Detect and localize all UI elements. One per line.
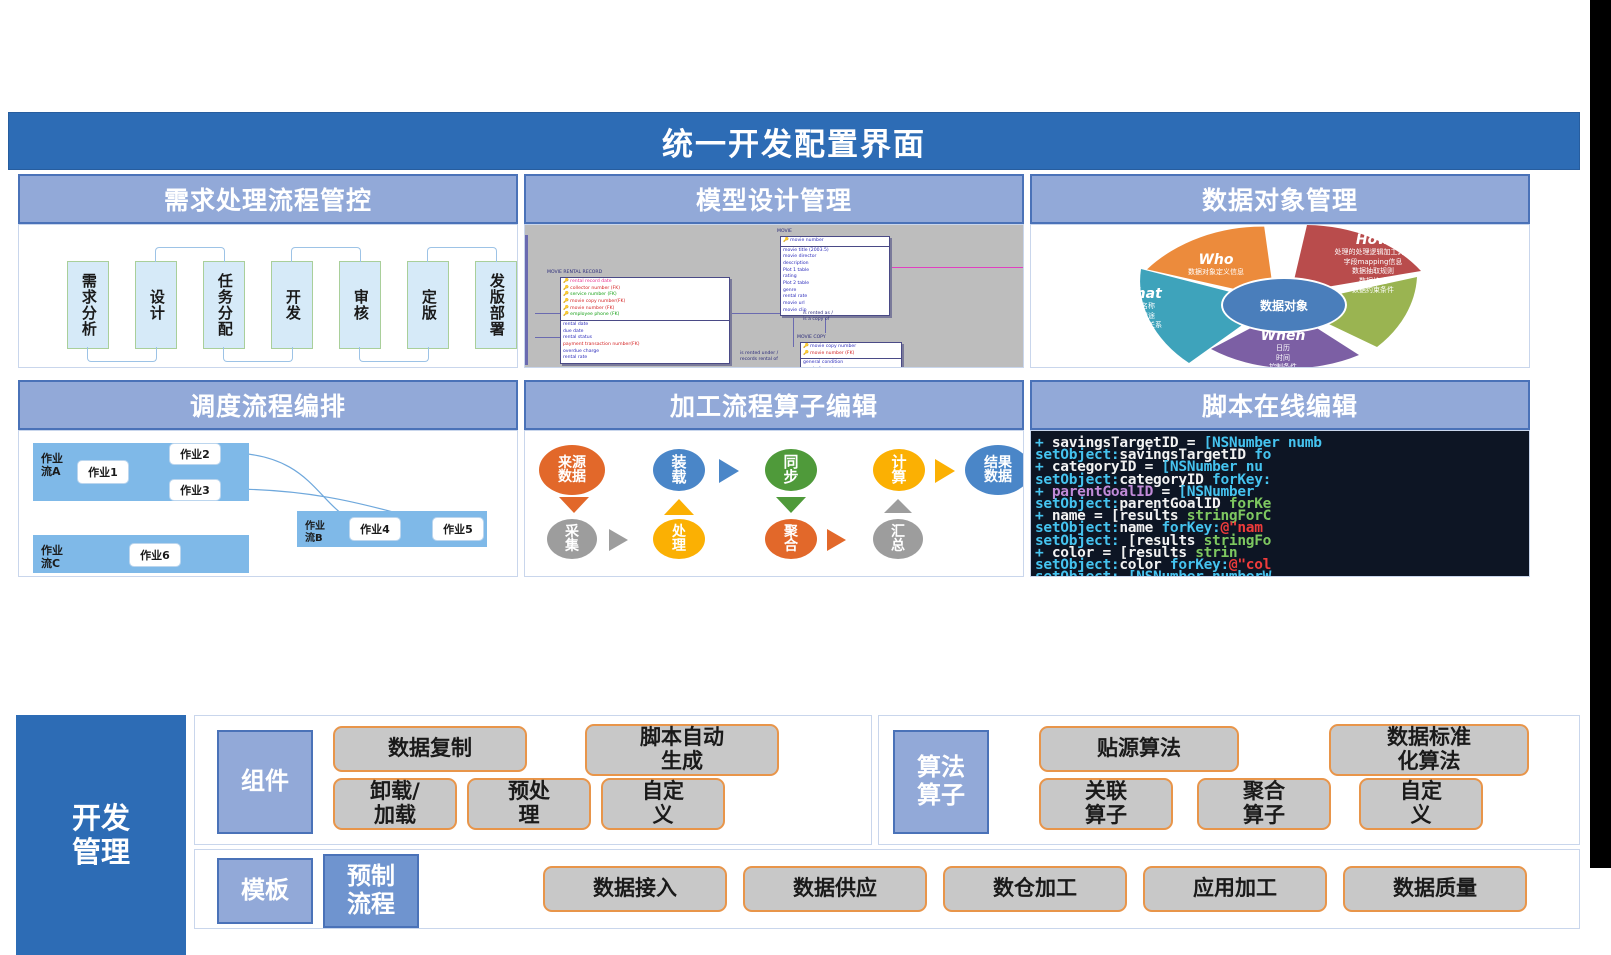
panel-header-script: 脚本在线编辑 <box>1030 380 1530 430</box>
operator-node-source-data[interactable]: 来源 数据 <box>539 445 605 495</box>
arrow-up-icon <box>884 499 912 513</box>
flow-link-3-4 <box>291 247 361 262</box>
category-algorithms[interactable]: 算法 算子 <box>893 730 989 834</box>
template-pill-4[interactable]: 数据质量 <box>1343 866 1527 912</box>
component-pill-2[interactable]: 卸载/ 加载 <box>333 778 457 830</box>
er-entity-title-2: MOVIE COPY <box>797 335 826 341</box>
er-entity-fields: rental date due date rental status payme… <box>561 321 729 363</box>
panel-header-label: 调度流程编排 <box>190 387 346 423</box>
job-node-4[interactable]: 作业4 <box>349 517 401 541</box>
arrow-down-icon <box>559 497 589 513</box>
panel-header-label: 加工流程算子编辑 <box>670 387 878 423</box>
wheel-segment-where[interactable]: Where 存放物理位置 Mapping关系 <box>1379 293 1505 327</box>
five-w-wheel[interactable]: How 处理的处理逻辑加工算法 字段mapping信息 数据抽取规则 数据格式 … <box>1031 225 1529 367</box>
panel-body-schedule: 作业 流A 作业1 作业2 作业3 作业 流B 作业4 作业5 作业 流C 作业… <box>18 430 518 577</box>
right-edge-band <box>1590 0 1611 868</box>
panel-body-script: + savingsTargetID = [NSNumber numbsetObj… <box>1030 430 1530 577</box>
category-template[interactable]: 模板 <box>217 858 313 924</box>
page-title: 统一开发配置界面 <box>662 119 926 164</box>
algorithms-card: 算法 算子 贴源算法 数据标准 化算法 关联 算子 聚合 算子 自定 义 <box>878 715 1580 845</box>
arrow-right-icon <box>609 529 628 551</box>
operator-node-process[interactable]: 处 理 <box>653 519 705 559</box>
wheel-segment-who[interactable]: Who 数据对象定义信息 <box>1151 253 1281 278</box>
code-line-11: setObject: [NSNumber numberW <box>1035 569 1271 576</box>
panel-header-label: 数据对象管理 <box>1202 181 1358 217</box>
template-pill-2[interactable]: 数仓加工 <box>943 866 1127 912</box>
panel-header-model: 模型设计管理 <box>524 174 1024 224</box>
flow-link-5-6 <box>427 247 497 262</box>
flow-link-0-1 <box>87 347 157 362</box>
arrow-right-icon <box>935 459 955 483</box>
code-editor-surface[interactable]: + savingsTargetID = [NSNumber numbsetObj… <box>1031 431 1529 576</box>
operator-node-sync[interactable]: 同 步 <box>765 449 817 491</box>
er-entity-title-0: MOVIE RENTAL RECORD <box>547 270 602 276</box>
panel-operator-editor[interactable]: 加工流程算子编辑 来源 数据 装 载 同 步 计 算 结果 数据 采 集 处 理… <box>524 380 1024 577</box>
operator-node-compute[interactable]: 计 算 <box>873 449 925 491</box>
flow-step-2[interactable]: 任务分配 <box>203 261 245 349</box>
er-entity-2[interactable]: 🔑 movie copy number 🔑 movie number (FK) … <box>800 342 902 368</box>
wheel-segment-what[interactable]: What 数据名称 数据用途 数据对象关系 加值流图 <box>1085 287 1197 340</box>
component-pill-3[interactable]: 预处 理 <box>467 778 591 830</box>
dev-management-sidebar[interactable]: 开发 管理 <box>16 715 186 955</box>
panel-data-object[interactable]: 数据对象管理 How 处理的处理逻辑加工算法 字段mapping信息 数据抽取规… <box>1030 174 1530 368</box>
arrow-down-icon <box>776 497 806 513</box>
arrow-right-icon <box>719 459 739 483</box>
flow-step-0[interactable]: 需求分析 <box>67 261 109 349</box>
panel-header-label: 需求处理流程管控 <box>164 181 372 217</box>
algorithm-pill-4[interactable]: 自定 义 <box>1359 778 1483 830</box>
panel-script-editor[interactable]: 脚本在线编辑 + savingsTargetID = [NSNumber num… <box>1030 380 1530 577</box>
flow-step-4[interactable]: 审核 <box>339 261 381 349</box>
template-pill-1[interactable]: 数据供应 <box>743 866 927 912</box>
er-relation-label-1: is rented under / records rental of <box>740 351 778 364</box>
er-relation-label-0: is rented as / is a copy of <box>803 311 833 324</box>
flow-link-4-5 <box>359 347 429 362</box>
requirement-flowchart[interactable]: 需求分析 设计 任务分配 开发 审核 定版 发版部署 <box>37 239 507 359</box>
wheel-center-label[interactable]: 数据对象 <box>1221 277 1347 333</box>
components-card: 组件 数据复制 脚本自动 生成 卸载/ 加载 预处 理 自定 义 <box>194 715 872 845</box>
arrow-right-icon <box>827 529 846 551</box>
flow-step-1[interactable]: 设计 <box>135 261 177 349</box>
panel-header-dataobject: 数据对象管理 <box>1030 174 1530 224</box>
panel-requirement-process[interactable]: 需求处理流程管控 需求分析 设计 任务分配 开发 审核 定版 发版部署 <box>18 174 518 368</box>
template-pill-3[interactable]: 应用加工 <box>1143 866 1327 912</box>
operator-node-result-data[interactable]: 结果 数据 <box>965 445 1024 495</box>
job-node-5[interactable]: 作业5 <box>432 517 484 541</box>
flow-step-6[interactable]: 发版部署 <box>475 261 517 349</box>
panel-header-schedule: 调度流程编排 <box>18 380 518 430</box>
category-components[interactable]: 组件 <box>217 730 313 834</box>
panel-header-operator: 加工流程算子编辑 <box>524 380 1024 430</box>
category-preset-flow[interactable]: 预制 流程 <box>323 854 419 928</box>
component-pill-1[interactable]: 脚本自动 生成 <box>585 724 779 776</box>
panel-body-model: MOVIE RENTAL RECORD 🔑 rental record date… <box>524 224 1024 368</box>
er-entity-1[interactable]: 🔑 movie number movie title (2003.5) movi… <box>780 236 890 316</box>
algorithm-pill-0[interactable]: 贴源算法 <box>1039 726 1239 772</box>
job-node-2[interactable]: 作业2 <box>169 443 221 465</box>
flow-link-2-3 <box>223 347 293 362</box>
panel-header-requirement: 需求处理流程管控 <box>18 174 518 224</box>
template-card: 模板 预制 流程 数据接入 数据供应 数仓加工 应用加工 数据质量 <box>194 849 1580 929</box>
operator-node-load[interactable]: 装 载 <box>653 449 705 491</box>
operator-node-collect[interactable]: 采 集 <box>547 519 597 559</box>
main-title-bar: 统一开发配置界面 <box>8 112 1580 170</box>
job-node-6[interactable]: 作业6 <box>129 543 181 567</box>
panel-header-label: 模型设计管理 <box>696 181 852 217</box>
er-diagram[interactable]: MOVIE RENTAL RECORD 🔑 rental record date… <box>525 225 1023 367</box>
panel-body-operator: 来源 数据 装 载 同 步 计 算 结果 数据 采 集 处 理 聚 合 汇 总 <box>524 430 1024 577</box>
panel-body-requirement: 需求分析 设计 任务分配 开发 审核 定版 发版部署 <box>18 224 518 368</box>
component-pill-0[interactable]: 数据复制 <box>333 726 527 772</box>
flow-step-5[interactable]: 定版 <box>407 261 449 349</box>
operator-canvas[interactable]: 来源 数据 装 载 同 步 计 算 结果 数据 采 集 处 理 聚 合 汇 总 <box>525 431 1023 576</box>
job-node-1[interactable]: 作业1 <box>77 460 129 484</box>
operator-node-summarize[interactable]: 汇 总 <box>873 519 923 559</box>
template-pill-0[interactable]: 数据接入 <box>543 866 727 912</box>
arrow-up-icon <box>664 499 694 515</box>
operator-node-aggregate[interactable]: 聚 合 <box>765 519 817 559</box>
job-node-3[interactable]: 作业3 <box>169 479 221 501</box>
flow-link-1-2 <box>155 247 225 262</box>
component-pill-4[interactable]: 自定 义 <box>601 778 725 830</box>
panel-schedule-orchestration[interactable]: 调度流程编排 作业 流A 作业1 作业2 作业3 作业 流B <box>18 380 518 577</box>
panel-header-label: 脚本在线编辑 <box>1202 387 1358 423</box>
wheel-segment-when[interactable]: When 日历 时间 控制条件 <box>1227 329 1339 368</box>
job-flow-canvas[interactable]: 作业 流A 作业1 作业2 作业3 作业 流B 作业4 作业5 作业 流C 作业… <box>19 431 517 576</box>
dev-management-label: 开发 管理 <box>72 801 130 869</box>
dev-management-section: 开发 管理 组件 数据复制 脚本自动 生成 卸载/ 加载 预处 理 自定 义 算… <box>16 715 1578 843</box>
er-entity-title-1: MOVIE <box>777 229 792 235</box>
er-entity-0[interactable]: 🔑 rental record date 🔑 collector number … <box>560 277 730 364</box>
algorithm-pill-1[interactable]: 数据标准 化算法 <box>1329 724 1529 776</box>
panel-model-design[interactable]: 模型设计管理 MOVIE RENTAL RECORD 🔑 rental reco… <box>524 174 1024 368</box>
algorithm-pill-3[interactable]: 聚合 算子 <box>1197 778 1331 830</box>
panel-body-dataobject: How 处理的处理逻辑加工算法 字段mapping信息 数据抽取规则 数据格式 … <box>1030 224 1530 368</box>
algorithm-pill-2[interactable]: 关联 算子 <box>1039 778 1173 830</box>
slide-canvas: 统一开发配置界面 需求处理流程管控 需求分析 设计 任务分配 开发 审核 定版 … <box>8 112 1586 845</box>
flow-step-3[interactable]: 开发 <box>271 261 313 349</box>
er-entity-keys: 🔑 rental record date 🔑 collector number … <box>561 278 729 321</box>
